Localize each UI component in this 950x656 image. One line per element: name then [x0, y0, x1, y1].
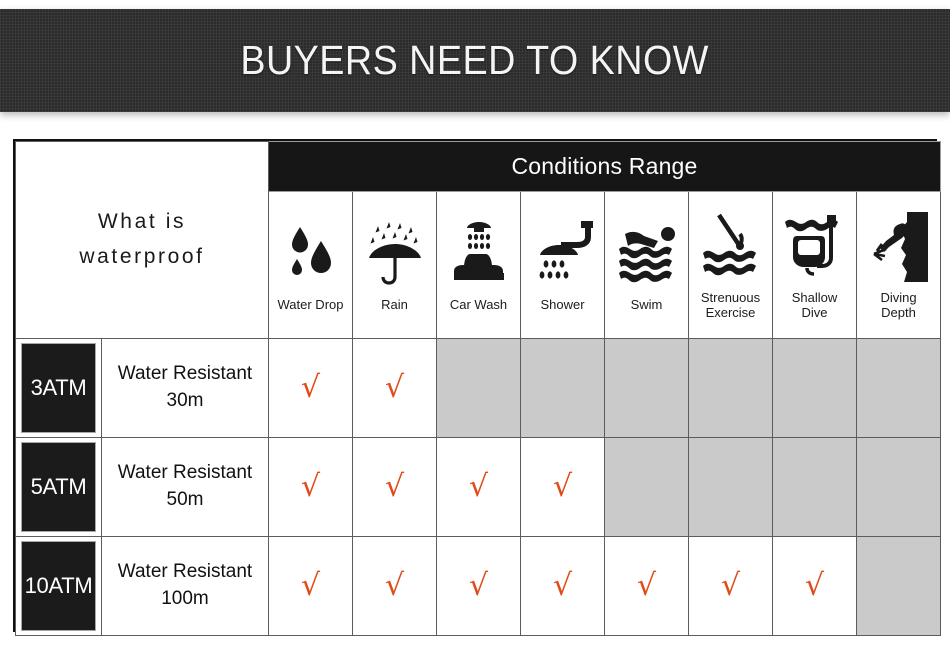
shower-head-icon [521, 211, 604, 297]
condition-header-strenuous-exercise: Strenuous Exercise [689, 192, 773, 339]
cell-unsupported-swim [605, 438, 689, 537]
page-title: BUYERS NEED TO KNOW [241, 37, 709, 84]
diver-entry-icon [699, 212, 763, 282]
cell-unsupported-strenuous-exercise [689, 339, 773, 438]
umbrella-rain-icon [364, 220, 426, 288]
cell-unsupported-diving-depth [857, 339, 941, 438]
condition-label: Diving Depth [857, 290, 940, 321]
cell-unsupported-diving-depth [857, 438, 941, 537]
cell-unsupported-car-wash [437, 339, 521, 438]
condition-label: Shower [521, 297, 604, 312]
condition-header-swim: Swim [605, 192, 689, 339]
header-banner: BUYERS NEED TO KNOW [0, 9, 950, 112]
cell-unsupported-shower [521, 339, 605, 438]
condition-header-rain: Rain [353, 192, 437, 339]
atm-rating-cell: 10ATM [16, 537, 102, 636]
condition-label: Swim [605, 297, 688, 312]
cell-supported-shower: √ [521, 438, 605, 537]
snorkel-mask-icon [773, 204, 856, 290]
table-row: 3ATMWater Resistant 30m√√ [16, 339, 941, 438]
water-drop-icon [269, 211, 352, 297]
condition-header-shower: Shower [521, 192, 605, 339]
condition-label: Shallow Dive [773, 290, 856, 321]
car-wash-icon [448, 219, 510, 289]
condition-label: Rain [353, 297, 436, 312]
cell-supported-shower: √ [521, 537, 605, 636]
cell-supported-car-wash: √ [437, 438, 521, 537]
atm-rating-badge: 3ATM [22, 344, 95, 432]
scuba-diver-cliff-icon [870, 210, 928, 284]
condition-header-shallow-dive: Shallow Dive [773, 192, 857, 339]
water-resistance-description: Water Resistant 100m [102, 537, 269, 636]
waterproof-spec-table: What is waterproofConditions Range Water… [13, 139, 937, 632]
water-drop-icon [283, 223, 339, 285]
car-wash-icon [437, 211, 520, 297]
row-header-title: What is waterproof [16, 142, 269, 339]
shower-head-icon [531, 219, 595, 289]
cell-unsupported-shallow-dive [773, 438, 857, 537]
snorkel-mask-icon [783, 212, 847, 282]
condition-label: Car Wash [437, 297, 520, 312]
cell-supported-strenuous-exercise: √ [689, 537, 773, 636]
cell-unsupported-strenuous-exercise [689, 438, 773, 537]
cell-supported-rain: √ [353, 537, 437, 636]
swimmer-icon [613, 223, 681, 285]
cell-supported-swim: √ [605, 537, 689, 636]
diver-entry-icon [689, 204, 772, 290]
cell-supported-rain: √ [353, 438, 437, 537]
cell-supported-water-drop: √ [269, 339, 353, 438]
cell-supported-car-wash: √ [437, 537, 521, 636]
cell-unsupported-swim [605, 339, 689, 438]
atm-rating-badge: 10ATM [22, 542, 95, 630]
condition-header-diving-depth: Diving Depth [857, 192, 941, 339]
swimmer-icon [605, 211, 688, 297]
table-row: 5ATMWater Resistant 50m√√√√ [16, 438, 941, 537]
cell-supported-water-drop: √ [269, 537, 353, 636]
umbrella-rain-icon [353, 211, 436, 297]
atm-rating-cell: 3ATM [16, 339, 102, 438]
condition-label: Strenuous Exercise [689, 290, 772, 321]
cell-unsupported-diving-depth [857, 537, 941, 636]
table-header-row-group: What is waterproofConditions Range [16, 142, 941, 192]
conditions-range-header: Conditions Range [269, 142, 941, 192]
water-resistance-description: Water Resistant 50m [102, 438, 269, 537]
cell-unsupported-shallow-dive [773, 339, 857, 438]
table-row: 10ATMWater Resistant 100m√√√√√√√ [16, 537, 941, 636]
condition-label: Water Drop [269, 297, 352, 312]
condition-header-water-drop: Water Drop [269, 192, 353, 339]
water-resistance-description: Water Resistant 30m [102, 339, 269, 438]
cell-supported-shallow-dive: √ [773, 537, 857, 636]
cell-supported-water-drop: √ [269, 438, 353, 537]
scuba-diver-cliff-icon [857, 204, 940, 290]
condition-header-car-wash: Car Wash [437, 192, 521, 339]
cell-supported-rain: √ [353, 339, 437, 438]
atm-rating-cell: 5ATM [16, 438, 102, 537]
atm-rating-badge: 5ATM [22, 443, 95, 531]
